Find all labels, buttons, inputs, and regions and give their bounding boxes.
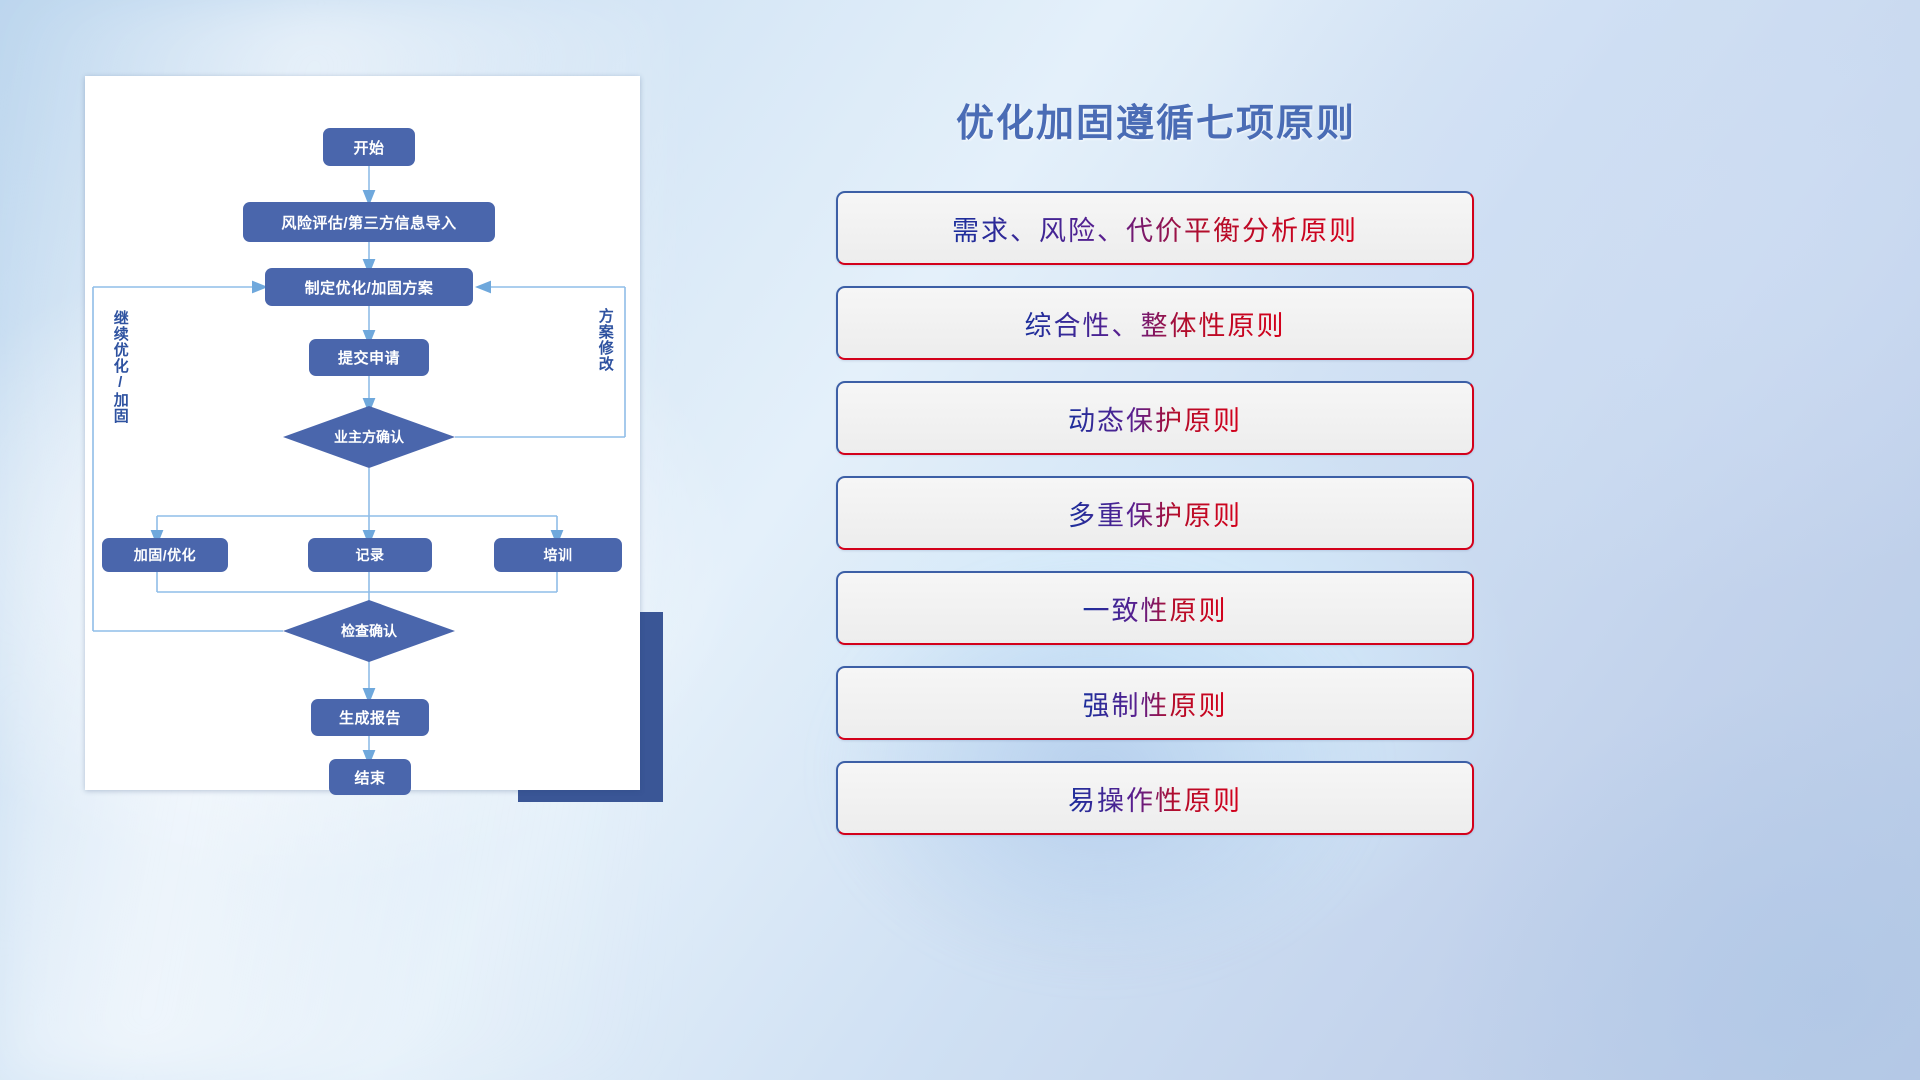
flowchart-card: 开始 风险评估/第三方信息导入 制定优化/加固方案 提交申请 业主方确认 加固/… bbox=[85, 76, 640, 790]
node-training[interactable]: 培训 bbox=[494, 538, 622, 572]
principle-item[interactable]: 动态保护原则 bbox=[836, 381, 1474, 455]
principle-item[interactable]: 一致性原则 bbox=[836, 571, 1474, 645]
decision-check-confirm-text: 检查确认 bbox=[341, 621, 397, 641]
principle-item[interactable]: 强制性原则 bbox=[836, 666, 1474, 740]
node-start[interactable]: 开始 bbox=[323, 128, 415, 166]
node-submit-application[interactable]: 提交申请 bbox=[309, 339, 429, 376]
principle-item[interactable]: 需求、风险、代价平衡分析原则 bbox=[836, 191, 1474, 265]
node-submit-application-label: 提交申请 bbox=[338, 347, 400, 368]
node-start-label: 开始 bbox=[353, 137, 384, 158]
principles-list: 需求、风险、代价平衡分析原则 综合性、整体性原则 动态保护原则 多重保护原则 一… bbox=[836, 191, 1474, 856]
principle-label: 易操作性原则 bbox=[1068, 779, 1242, 818]
principle-label: 需求、风险、代价平衡分析原则 bbox=[952, 209, 1358, 248]
node-reinforce-optimize[interactable]: 加固/优化 bbox=[102, 538, 228, 572]
node-record[interactable]: 记录 bbox=[308, 538, 432, 572]
principle-item[interactable]: 综合性、整体性原则 bbox=[836, 286, 1474, 360]
principle-label: 综合性、整体性原则 bbox=[1025, 304, 1286, 343]
node-plan-label: 制定优化/加固方案 bbox=[305, 277, 434, 298]
principle-item[interactable]: 多重保护原则 bbox=[836, 476, 1474, 550]
edge-label-continue-optimize: 继续优化/加固 bbox=[112, 310, 128, 424]
node-risk-assessment[interactable]: 风险评估/第三方信息导入 bbox=[243, 202, 495, 242]
decision-owner-confirm-label: 业主方确认 bbox=[283, 421, 455, 453]
node-end[interactable]: 结束 bbox=[329, 759, 411, 795]
node-reinforce-optimize-label: 加固/优化 bbox=[134, 545, 196, 565]
node-training-label: 培训 bbox=[544, 545, 573, 565]
decision-check-confirm-label: 检查确认 bbox=[283, 615, 455, 647]
principle-label: 多重保护原则 bbox=[1068, 494, 1242, 533]
node-generate-report[interactable]: 生成报告 bbox=[311, 699, 429, 736]
decision-owner-confirm-text: 业主方确认 bbox=[334, 427, 404, 447]
principle-label: 动态保护原则 bbox=[1068, 399, 1242, 438]
principle-item[interactable]: 易操作性原则 bbox=[836, 761, 1474, 835]
node-end-label: 结束 bbox=[354, 767, 385, 788]
panel-title: 优化加固遵循七项原则 bbox=[836, 92, 1476, 147]
node-record-label: 记录 bbox=[356, 545, 385, 565]
node-plan[interactable]: 制定优化/加固方案 bbox=[265, 268, 473, 306]
principle-label: 一致性原则 bbox=[1083, 589, 1228, 628]
node-generate-report-label: 生成报告 bbox=[339, 707, 401, 728]
node-risk-assessment-label: 风险评估/第三方信息导入 bbox=[281, 212, 456, 233]
principle-label: 强制性原则 bbox=[1083, 684, 1228, 723]
edge-label-plan-revision: 方案修改 bbox=[597, 308, 613, 372]
